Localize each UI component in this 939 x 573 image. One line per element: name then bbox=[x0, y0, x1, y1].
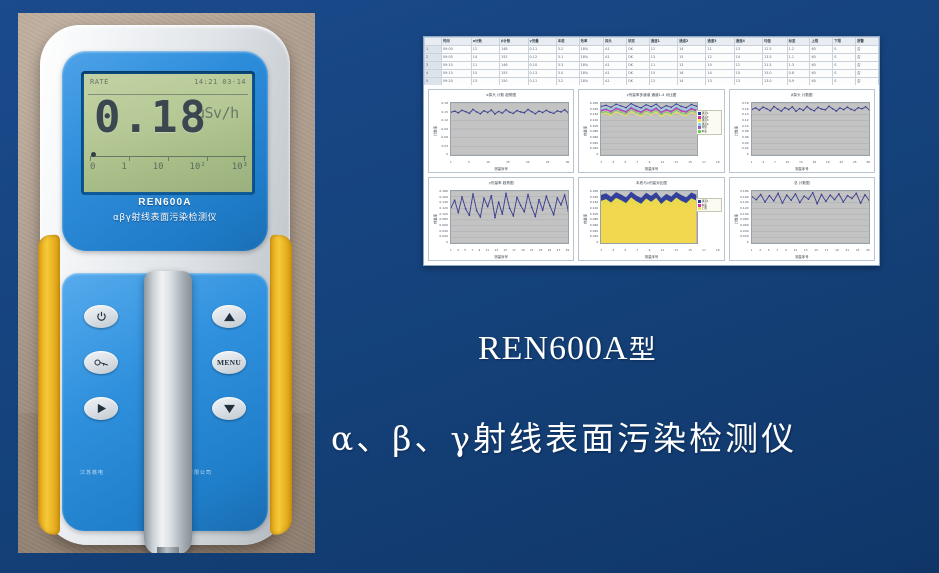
x-tick-label: 17 bbox=[702, 248, 706, 253]
chart-title: 本底与γ剂量对比图 bbox=[579, 181, 723, 186]
x-tick-label: 17 bbox=[512, 248, 516, 253]
table-cell: 10 bbox=[706, 62, 734, 70]
y-tick-label: 0.03 bbox=[441, 145, 448, 148]
table-cell: 14 bbox=[678, 78, 706, 86]
y-tick-label: 0.160 bbox=[590, 108, 599, 111]
y-tick-label: 0.180 bbox=[590, 190, 599, 193]
chart-total-count[interactable]: 总 计数图计数率0.1800.1600.1400.1200.1000.0800.… bbox=[729, 177, 875, 261]
table-cell: 60 bbox=[810, 70, 833, 78]
table-cell: OK bbox=[626, 54, 649, 62]
chart-y-ticks: 0.1800.1600.1400.1200.1000.0800.0600.040… bbox=[737, 190, 749, 244]
y-tick-label: 0.18 bbox=[441, 102, 448, 105]
y-tick-label: 0.040 bbox=[590, 142, 599, 145]
slide-canvas: RATE 14:21 03-14 0.18 uSv/h bbox=[0, 0, 939, 573]
table-cell: 60 bbox=[810, 62, 833, 70]
table-cell: 09:05 bbox=[442, 54, 472, 62]
y-tick-label: 0 bbox=[596, 241, 598, 244]
table-cell: A1 bbox=[604, 78, 627, 86]
x-tick-label: 19 bbox=[716, 248, 720, 253]
y-tick-label: 0.160 bbox=[439, 196, 448, 199]
table-cell: 13 bbox=[649, 54, 677, 62]
x-tick-label: 1 bbox=[450, 160, 452, 165]
spreadsheet-strip: 时间α计数β计数γ剂量本底效率探头状态通道1通道2通道3通道4均值标差上限下限报… bbox=[424, 37, 879, 85]
chart-alpha-count[interactable]: α探头 计数 趋势图计数率0.180.150.120.090.060.03015… bbox=[428, 89, 574, 173]
table-row[interactable]: 409:15151550.133.018%A1OK1516141515.00.8… bbox=[425, 70, 879, 78]
chart-plot-area bbox=[751, 102, 870, 156]
table-header-cell: α计数 bbox=[471, 38, 499, 46]
table-cell: 60 bbox=[810, 54, 833, 62]
x-tick-label: 22 bbox=[839, 160, 843, 165]
table-cell: 15 bbox=[471, 70, 499, 78]
y-tick-label: 0.060 bbox=[590, 224, 599, 227]
x-tick-label: 11 bbox=[794, 248, 798, 253]
lcd-bezel: RATE 14:21 03-14 0.18 uSv/h bbox=[81, 71, 255, 195]
table-cell: 11 bbox=[649, 62, 677, 70]
y-tick-label: 0.02 bbox=[742, 147, 749, 150]
x-tick-label: 9 bbox=[785, 248, 787, 253]
down-button[interactable] bbox=[212, 397, 246, 420]
table-cell: 12 bbox=[734, 62, 762, 70]
table-header-cell: 时间 bbox=[442, 38, 472, 46]
table-cell: 13.0 bbox=[763, 78, 788, 86]
table-header-cell: 报警 bbox=[856, 38, 879, 46]
device-model-subtitle: αβγ射线表面污染检测仪 bbox=[62, 210, 268, 223]
y-tick-label: 0.120 bbox=[590, 207, 599, 210]
y-tick-label: 0.140 bbox=[439, 201, 448, 204]
table-cell: 152 bbox=[500, 54, 528, 62]
table-cell: 15.0 bbox=[763, 70, 788, 78]
x-tick-label: 3 bbox=[612, 160, 614, 165]
y-tick-label: 0.10 bbox=[742, 125, 749, 128]
table-cell: 12.5 bbox=[763, 46, 788, 54]
chart-x-ticks: 151015202530 bbox=[450, 160, 569, 165]
chart-x-axis-label: 测量序号 bbox=[429, 166, 573, 171]
table-header-cell: 通道3 bbox=[706, 38, 734, 46]
legend-swatch bbox=[698, 207, 701, 210]
lcd-scale-tick: 10 bbox=[153, 162, 164, 172]
table-cell: 12 bbox=[706, 54, 734, 62]
table-cell: A1 bbox=[604, 46, 627, 54]
chart-x-axis-label: 测量序号 bbox=[730, 254, 874, 259]
y-tick-label: 0.180 bbox=[590, 102, 599, 105]
y-tick-label: 0.060 bbox=[590, 136, 599, 139]
table-cell: 13 bbox=[678, 62, 706, 70]
table-row[interactable]: 309:10111460.103.318%A1OK1113101211.51.3… bbox=[425, 62, 879, 70]
legend-label: 上限 bbox=[702, 207, 707, 210]
table-cell: 13 bbox=[734, 78, 762, 86]
triangle-down-icon bbox=[223, 404, 236, 414]
y-tick-label: 0.180 bbox=[439, 190, 448, 193]
table-header-cell: 探头 bbox=[604, 38, 627, 46]
y-tick-label: 0 bbox=[446, 241, 448, 244]
y-tick-label: 0.060 bbox=[439, 224, 448, 227]
x-tick-label: 21 bbox=[530, 248, 534, 253]
y-tick-label: 0.060 bbox=[740, 224, 749, 227]
power-icon bbox=[96, 311, 107, 322]
table-cell: 0.12 bbox=[528, 54, 556, 62]
x-tick-label: 7 bbox=[471, 248, 473, 253]
y-tick-label: 0.080 bbox=[590, 130, 599, 133]
table-cell: 0 bbox=[833, 70, 856, 78]
table-cell: 14 bbox=[734, 54, 762, 62]
product-title-line1: REN600A型 bbox=[478, 328, 657, 368]
table-cell: 12 bbox=[649, 46, 677, 54]
chart-plot-area bbox=[751, 190, 870, 244]
y-tick-label: 0.06 bbox=[742, 136, 749, 139]
x-tick-label: 3 bbox=[457, 248, 459, 253]
survey-meter-device: RATE 14:21 03-14 0.18 uSv/h bbox=[40, 25, 290, 545]
x-tick-label: 29 bbox=[566, 248, 570, 253]
y-tick-label: 0.040 bbox=[590, 230, 599, 233]
x-tick-label: 9 bbox=[478, 248, 480, 253]
y-tick-label: 0.080 bbox=[590, 218, 599, 221]
chart-beta-count[interactable]: β探头 计数图计数率0.180.160.140.120.100.080.060.… bbox=[729, 89, 875, 173]
product-title-line2: α、β、γ射线表面污染检测仪 bbox=[331, 412, 797, 460]
chart-title: β探头 计数图 bbox=[730, 93, 874, 98]
y-tick-label: 0.100 bbox=[590, 125, 599, 128]
table-cell: 0 bbox=[833, 46, 856, 54]
x-tick-label: 15 bbox=[814, 248, 818, 253]
table-cell: 155 bbox=[500, 70, 528, 78]
x-tick-label: 7 bbox=[637, 160, 639, 165]
y-tick-label: 0.180 bbox=[740, 190, 749, 193]
table-header-cell: β计数 bbox=[500, 38, 528, 46]
x-tick-label: 7 bbox=[774, 160, 776, 165]
chart-title: α探头 计数 趋势图 bbox=[429, 93, 573, 98]
table-cell: 18% bbox=[579, 54, 604, 62]
table-cell: 15 bbox=[649, 70, 677, 78]
table-cell: 否 bbox=[856, 78, 879, 86]
x-tick-label: 23 bbox=[539, 248, 543, 253]
table-cell: A1 bbox=[604, 62, 627, 70]
lcd-scale-tick: 10² bbox=[190, 162, 206, 172]
y-tick-label: 0.020 bbox=[439, 235, 448, 238]
y-tick-label: 0.140 bbox=[590, 201, 599, 204]
y-tick-label: 0.160 bbox=[740, 196, 749, 199]
table-cell: 09:15 bbox=[442, 70, 472, 78]
table-header-cell: 下限 bbox=[833, 38, 856, 46]
legend-label: 本底 bbox=[702, 130, 707, 133]
table-cell: 09:10 bbox=[442, 62, 472, 70]
chart-y-ticks: 0.1800.1600.1400.1200.1000.0800.0600.040… bbox=[586, 190, 598, 244]
x-tick-label: 3 bbox=[759, 248, 761, 253]
power-button[interactable] bbox=[84, 305, 118, 328]
y-tick-label: 0.080 bbox=[740, 218, 749, 221]
x-tick-label: 5 bbox=[464, 248, 466, 253]
rubber-bumper-left bbox=[38, 235, 60, 536]
chart-title: γ剂量率多道谱 通道1-4 对比图 bbox=[579, 93, 723, 98]
x-tick-label: 13 bbox=[799, 160, 803, 165]
y-tick-label: 0.040 bbox=[740, 230, 749, 233]
menu-button-label: MENU bbox=[217, 358, 241, 367]
x-tick-label: 13 bbox=[804, 248, 808, 253]
table-header-cell: 通道1 bbox=[649, 38, 677, 46]
table-cell: 15 bbox=[734, 70, 762, 78]
table-cell: 3.1 bbox=[556, 54, 579, 62]
x-tick-label: 19 bbox=[835, 248, 839, 253]
table-header-row: 时间α计数β计数γ剂量本底效率探头状态通道1通道2通道3通道4均值标差上限下限报… bbox=[425, 38, 879, 46]
x-tick-label: 13 bbox=[494, 248, 498, 253]
y-tick-label: 0.120 bbox=[439, 207, 448, 210]
software-screenshot: 时间α计数β计数γ剂量本底效率探头状态通道1通道2通道3通道4均值标差上限下限报… bbox=[423, 36, 880, 266]
y-tick-label: 0.020 bbox=[740, 235, 749, 238]
table-cell: 13.5 bbox=[763, 54, 788, 62]
chart-gamma-dose[interactable]: γ剂量率 趋势图剂量率0.1800.1600.1400.1200.1000.08… bbox=[428, 177, 574, 261]
x-tick-label: 28 bbox=[866, 160, 870, 165]
x-tick-label: 21 bbox=[846, 248, 850, 253]
table-cell: 0.8 bbox=[787, 70, 810, 78]
table-row[interactable]: 509:20131500.113.218%A1OK1214131313.00.9… bbox=[425, 78, 879, 86]
table-cell: 4 bbox=[425, 70, 442, 78]
chart-x-ticks: 135791113151719212325 bbox=[751, 248, 870, 253]
table-cell: 14 bbox=[706, 70, 734, 78]
chart-plot-area bbox=[450, 102, 569, 156]
y-tick-label: 0 bbox=[747, 153, 749, 156]
play-icon bbox=[96, 403, 107, 414]
y-tick-label: 0.160 bbox=[590, 196, 599, 199]
table-cell: 11 bbox=[471, 62, 499, 70]
table-cell: 3.2 bbox=[556, 46, 579, 54]
table-header-cell bbox=[425, 38, 442, 46]
table-cell: 11.5 bbox=[763, 62, 788, 70]
table-cell: 3 bbox=[425, 62, 442, 70]
x-tick-label: 4 bbox=[762, 160, 764, 165]
y-tick-label: 0.100 bbox=[590, 213, 599, 216]
x-tick-label: 11 bbox=[661, 248, 665, 253]
x-tick-label: 5 bbox=[624, 160, 626, 165]
x-tick-label: 1 bbox=[751, 248, 753, 253]
lcd-screen: RATE 14:21 03-14 0.18 uSv/h bbox=[84, 74, 252, 192]
table-cell: 1.2 bbox=[787, 46, 810, 54]
table-row[interactable]: 209:05141520.123.118%A1OK1315121413.51.1… bbox=[425, 54, 879, 62]
x-tick-label: 1 bbox=[751, 160, 753, 165]
table-cell: 否 bbox=[856, 70, 879, 78]
x-tick-label: 10 bbox=[786, 160, 790, 165]
table-header-cell: 本底 bbox=[556, 38, 579, 46]
y-tick-label: 0.12 bbox=[742, 119, 749, 122]
chart-y-ticks: 0.1800.1600.1400.1200.1000.0800.0600.040… bbox=[436, 190, 448, 244]
chart-x-axis-label: 测量序号 bbox=[579, 166, 723, 171]
chart-y-ticks: 0.180.160.140.120.100.080.060.040.020 bbox=[737, 102, 749, 156]
legend-item[interactable]: 上限 bbox=[698, 207, 720, 210]
x-tick-label: 15 bbox=[503, 248, 507, 253]
table-cell: 13 bbox=[706, 78, 734, 86]
legend-swatch bbox=[698, 130, 701, 133]
chart-panel-grid: α探头 计数 趋势图计数率0.180.150.120.090.060.03015… bbox=[428, 89, 875, 261]
x-tick-label: 25 bbox=[853, 160, 857, 165]
y-tick-label: 0.020 bbox=[590, 147, 599, 150]
x-tick-label: 30 bbox=[566, 160, 570, 165]
table-cell: 15 bbox=[678, 54, 706, 62]
x-tick-label: 23 bbox=[856, 248, 860, 253]
table-cell: 18% bbox=[579, 70, 604, 78]
y-tick-label: 0.120 bbox=[740, 207, 749, 210]
device-handle-grip bbox=[144, 271, 192, 553]
key-icon bbox=[94, 358, 109, 367]
table-cell: OK bbox=[626, 62, 649, 70]
device-model-name: REN600A bbox=[62, 197, 268, 208]
table-cell: 0.11 bbox=[528, 46, 556, 54]
x-tick-label: 7 bbox=[776, 248, 778, 253]
y-tick-label: 0.14 bbox=[742, 113, 749, 116]
lcd-mode-label: RATE bbox=[90, 78, 109, 86]
table-cell: 1.1 bbox=[787, 54, 810, 62]
table-cell: 1 bbox=[425, 46, 442, 54]
table-cell: 13 bbox=[471, 78, 499, 86]
device-display-face: RATE 14:21 03-14 0.18 uSv/h bbox=[62, 51, 268, 251]
table-cell: 60 bbox=[810, 78, 833, 86]
table-cell: OK bbox=[626, 78, 649, 86]
x-tick-label: 7 bbox=[637, 248, 639, 253]
table-header-cell: 上限 bbox=[810, 38, 833, 46]
table-cell: 18% bbox=[579, 78, 604, 86]
x-tick-label: 5 bbox=[768, 248, 770, 253]
data-table: 时间α计数β计数γ剂量本底效率探头状态通道1通道2通道3通道4均值标差上限下限报… bbox=[424, 37, 879, 85]
y-tick-label: 0.080 bbox=[439, 218, 448, 221]
table-cell: 3.2 bbox=[556, 78, 579, 86]
x-tick-label: 16 bbox=[813, 160, 817, 165]
lcd-reading-value: 0.18 bbox=[94, 96, 208, 140]
x-tick-label: 5 bbox=[624, 248, 626, 253]
chart-plot-area bbox=[600, 190, 697, 244]
table-cell: 150 bbox=[500, 78, 528, 86]
chart-x-ticks: 135791113151719 bbox=[600, 160, 719, 165]
table-cell: 14 bbox=[471, 54, 499, 62]
table-cell: 0.13 bbox=[528, 70, 556, 78]
y-tick-label: 0.100 bbox=[439, 213, 448, 216]
x-tick-label: 3 bbox=[612, 248, 614, 253]
maker-text-left: 江苏核电 bbox=[80, 469, 104, 476]
start-button[interactable] bbox=[84, 397, 118, 420]
device-model-print: REN600A αβγ射线表面污染检测仪 bbox=[62, 197, 268, 223]
search-button[interactable] bbox=[84, 351, 118, 374]
legend-item[interactable]: 本底 bbox=[698, 130, 720, 133]
lcd-unit-label: uSv/h bbox=[196, 104, 239, 122]
product-title-model: REN600A bbox=[478, 330, 629, 367]
y-tick-label: 0.04 bbox=[742, 142, 749, 145]
table-cell: 0 bbox=[833, 62, 856, 70]
table-cell: 0.9 bbox=[787, 78, 810, 86]
y-tick-label: 0 bbox=[446, 153, 448, 156]
table-cell: OK bbox=[626, 70, 649, 78]
table-cell: 3.0 bbox=[556, 70, 579, 78]
rubber-bumper-right bbox=[270, 235, 292, 536]
table-cell: 3.3 bbox=[556, 62, 579, 70]
chart-legend: 通道1通道2通道3通道4均值本底 bbox=[696, 110, 722, 135]
chart-y-ticks: 0.1800.1600.1400.1200.1000.0800.0600.040… bbox=[586, 102, 598, 156]
x-tick-label: 1 bbox=[450, 248, 452, 253]
lcd-scale-labels: 0 1 10 10² 10³ bbox=[90, 162, 248, 172]
y-tick-label: 0.15 bbox=[441, 111, 448, 114]
table-cell: 09:00 bbox=[442, 46, 472, 54]
x-tick-label: 1 bbox=[600, 248, 602, 253]
x-tick-label: 9 bbox=[649, 160, 651, 165]
table-cell: 1.3 bbox=[787, 62, 810, 70]
table-cell: 否 bbox=[856, 46, 879, 54]
lcd-scale-tick: 10³ bbox=[232, 162, 248, 172]
chart-multichannel[interactable]: γ剂量率多道谱 通道1-4 对比图剂量率0.1800.1600.1400.120… bbox=[578, 89, 724, 173]
chart-plot-area bbox=[450, 190, 569, 244]
up-button[interactable] bbox=[212, 305, 246, 328]
table-header-cell: 通道2 bbox=[678, 38, 706, 46]
chart-title: γ剂量率 趋势图 bbox=[429, 181, 573, 186]
y-tick-label: 0 bbox=[596, 153, 598, 156]
y-tick-label: 0.12 bbox=[441, 119, 448, 122]
x-tick-label: 20 bbox=[526, 160, 530, 165]
lcd-scale-tick: 1 bbox=[121, 162, 126, 172]
table-header-cell: 状态 bbox=[626, 38, 649, 46]
y-tick-label: 0.08 bbox=[742, 130, 749, 133]
x-tick-label: 17 bbox=[702, 160, 706, 165]
x-tick-label: 11 bbox=[661, 160, 665, 165]
table-cell: 18% bbox=[579, 46, 604, 54]
chart-title: 总 计数图 bbox=[730, 181, 874, 186]
chart-x-axis-label: 测量序号 bbox=[579, 254, 723, 259]
y-tick-label: 0.16 bbox=[742, 108, 749, 111]
table-cell: A1 bbox=[604, 70, 627, 78]
chart-plot-area bbox=[600, 102, 697, 156]
table-cell: 09:20 bbox=[442, 78, 472, 86]
table-cell: 0 bbox=[833, 78, 856, 86]
x-tick-label: 15 bbox=[688, 160, 692, 165]
table-header-cell: 通道4 bbox=[734, 38, 762, 46]
x-tick-label: 25 bbox=[548, 248, 552, 253]
x-tick-label: 15 bbox=[506, 160, 510, 165]
table-cell: OK bbox=[626, 46, 649, 54]
x-tick-label: 25 bbox=[866, 248, 870, 253]
x-tick-label: 9 bbox=[649, 248, 651, 253]
y-tick-label: 0.040 bbox=[439, 230, 448, 233]
table-cell: 14 bbox=[678, 46, 706, 54]
table-cell: 否 bbox=[856, 54, 879, 62]
table-cell: 16 bbox=[678, 70, 706, 78]
y-tick-label: 0.140 bbox=[740, 201, 749, 204]
table-row[interactable]: 109:00121480.113.218%A1OK1214111312.51.2… bbox=[425, 46, 879, 54]
x-tick-label: 19 bbox=[521, 248, 525, 253]
x-tick-label: 17 bbox=[825, 248, 829, 253]
x-tick-label: 15 bbox=[688, 248, 692, 253]
lcd-scale-tick: 0 bbox=[90, 162, 95, 172]
lcd-clock-label: 14:21 03-14 bbox=[194, 78, 246, 86]
x-tick-label: 19 bbox=[716, 160, 720, 165]
triangle-up-icon bbox=[223, 312, 236, 322]
chart-x-axis-label: 测量序号 bbox=[730, 166, 874, 171]
table-header-cell: 标差 bbox=[787, 38, 810, 46]
table-header-cell: 均值 bbox=[763, 38, 788, 46]
y-tick-label: 0.100 bbox=[740, 213, 749, 216]
x-tick-label: 13 bbox=[674, 248, 678, 253]
chart-stacked-channels[interactable]: 本底与γ剂量对比图剂量率0.1800.1600.1400.1200.1000.0… bbox=[578, 177, 724, 261]
x-tick-label: 1 bbox=[600, 160, 602, 165]
menu-button[interactable]: MENU bbox=[212, 351, 246, 374]
table-header-cell: γ剂量 bbox=[528, 38, 556, 46]
table-cell: 否 bbox=[856, 62, 879, 70]
table-cell: 12 bbox=[471, 46, 499, 54]
x-tick-label: 11 bbox=[486, 248, 490, 253]
table-cell: 12 bbox=[649, 78, 677, 86]
table-cell: A1 bbox=[604, 54, 627, 62]
chart-x-ticks: 135791113151719 bbox=[600, 248, 719, 253]
table-cell: 18% bbox=[579, 62, 604, 70]
table-cell: 11 bbox=[706, 46, 734, 54]
y-tick-label: 0.020 bbox=[590, 235, 599, 238]
table-cell: 5 bbox=[425, 78, 442, 86]
chart-x-ticks: 14710131619222528 bbox=[751, 160, 870, 165]
table-cell: 13 bbox=[734, 46, 762, 54]
x-tick-label: 5 bbox=[468, 160, 470, 165]
y-tick-label: 0.06 bbox=[441, 136, 448, 139]
table-header-cell: 效率 bbox=[579, 38, 604, 46]
